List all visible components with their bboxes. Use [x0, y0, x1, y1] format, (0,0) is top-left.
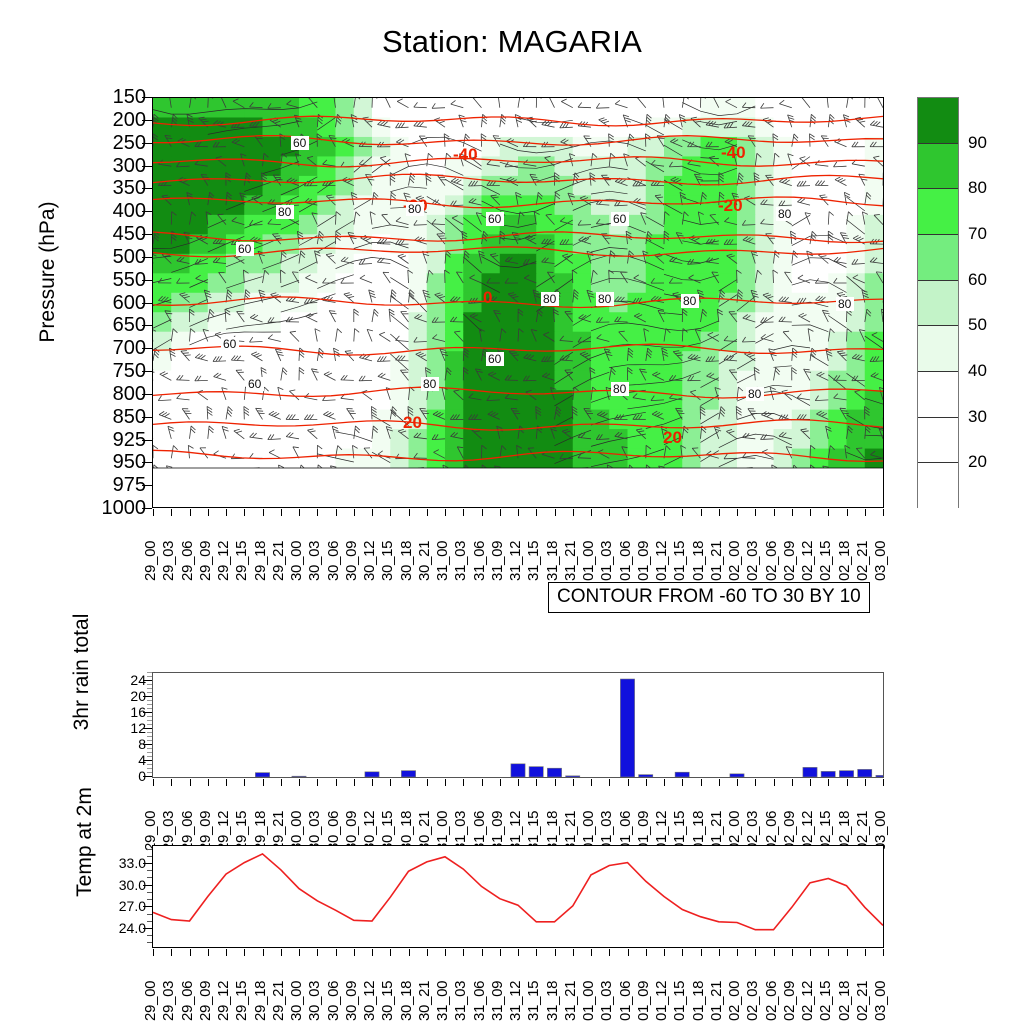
svg-text:60: 60 [293, 136, 307, 150]
pressure-tick-label: 975 [113, 475, 146, 495]
x-tick-label: 03_00 [873, 541, 888, 581]
x-tickmark [445, 509, 446, 516]
pressure-tick-label: 400 [113, 201, 146, 221]
x-tick-label: 03_00 [873, 981, 888, 1021]
x-tickmark [536, 949, 537, 956]
colorbar-band [918, 235, 958, 281]
pressure-tick-label: 350 [113, 178, 146, 198]
x-tickmark [737, 949, 738, 956]
x-tick-label: 31_12 [508, 541, 523, 581]
x-tickmark [299, 779, 300, 786]
x-tick-label: 30_18 [399, 981, 414, 1021]
x-tick-label: 30_00 [289, 541, 304, 581]
x-tickmark [208, 509, 209, 516]
x-tickmark [628, 949, 629, 956]
pressure-tickmark [142, 394, 152, 395]
temp-tickmark [143, 885, 152, 886]
x-tickmark [646, 779, 647, 786]
pressure-tickmark [142, 348, 152, 349]
x-tick-label: 30_21 [417, 981, 432, 1021]
x-tickmark [409, 509, 410, 516]
pressure-axis-ticklabels: 1502002503003504004505005506006507007508… [52, 97, 146, 508]
pressure-tickmark [142, 211, 152, 212]
x-tickmark [226, 949, 227, 956]
temp-x-axis: 29_0029_0329_0629_0929_1229_1529_1829_21… [152, 949, 884, 1023]
pressure-tick-label: 950 [113, 452, 146, 472]
x-tickmark [190, 509, 191, 516]
x-tickmark [682, 779, 683, 786]
rain-tickmark [143, 776, 152, 777]
x-tick-label: 30_03 [307, 541, 322, 581]
x-tickmark [500, 509, 501, 516]
x-tick-label: 30_18 [399, 541, 414, 581]
x-tickmark [263, 509, 264, 516]
x-tickmark [244, 779, 245, 786]
x-tick-label: 29_03 [161, 981, 176, 1021]
x-tickmark [737, 779, 738, 786]
pressure-tick-label: 850 [113, 407, 146, 427]
x-tickmark [573, 949, 574, 956]
temp-axis-ticklabels: 24.027.030.033.0 [86, 845, 146, 948]
x-tickmark [171, 949, 172, 956]
x-tickmark [865, 779, 866, 786]
x-tickmark [755, 779, 756, 786]
pressure-tickmark [142, 120, 152, 121]
x-tickmark [153, 779, 154, 786]
svg-text:80: 80 [683, 294, 697, 308]
x-tick-label: 30_15 [380, 981, 395, 1021]
x-tickmark [263, 779, 264, 786]
x-tickmark [299, 949, 300, 956]
x-tick-label: 30_12 [362, 541, 377, 581]
svg-text:60: 60 [613, 212, 627, 226]
rain-tickmark [143, 728, 152, 729]
rain-x-axis: 29_0029_0329_0629_0929_1229_1529_1829_21… [152, 779, 884, 853]
x-tickmark [190, 949, 191, 956]
temp-tickmark [143, 906, 152, 907]
x-tickmark [244, 949, 245, 956]
pressure-tick-label: 925 [113, 430, 146, 450]
x-tickmark [281, 509, 282, 516]
x-tickmark [883, 949, 884, 956]
x-tickmark [536, 509, 537, 516]
svg-text:20: 20 [663, 428, 682, 447]
svg-text:80: 80 [278, 205, 292, 219]
x-tickmark [573, 509, 574, 516]
x-tickmark [518, 509, 519, 516]
x-tickmark [226, 779, 227, 786]
svg-text:-40: -40 [453, 145, 478, 164]
x-tickmark [810, 949, 811, 956]
pressure-tick-label: 750 [113, 361, 146, 381]
rain-tickmark [143, 680, 152, 681]
x-tickmark [628, 779, 629, 786]
x-tick-label: 01_18 [691, 541, 706, 581]
x-tick-label: 29_03 [161, 541, 176, 581]
x-tickmark [390, 509, 391, 516]
pressure-tick-label: 800 [113, 384, 146, 404]
colorbar-band [918, 281, 958, 327]
pressure-tickmark [142, 462, 152, 463]
rain-axis-tickmarks [142, 672, 152, 778]
x-tickmark [755, 949, 756, 956]
pressure-tick-label: 200 [113, 110, 146, 130]
x-tickmark [701, 779, 702, 786]
x-tickmark [390, 779, 391, 786]
colorbar-band [918, 189, 958, 235]
x-tick-label: 29_09 [198, 981, 213, 1021]
x-tick-label: 31_15 [526, 541, 541, 581]
x-tickmark [883, 779, 884, 786]
x-tick-label: 02_12 [800, 981, 815, 1021]
x-tick-label: 02_09 [782, 981, 797, 1021]
x-tick-label: 02_06 [764, 981, 779, 1021]
x-tickmark [500, 949, 501, 956]
x-tickmark [847, 509, 848, 516]
x-tick-label: 29_12 [216, 541, 231, 581]
temp-tickmark [143, 863, 152, 864]
x-tick-label: 01_00 [581, 981, 596, 1021]
x-tick-label: 31_03 [453, 981, 468, 1021]
x-tickmark [883, 509, 884, 516]
colorbar-tick-label: 80 [968, 178, 987, 198]
x-tick-label: 02_03 [745, 981, 760, 1021]
x-tick-label: 31_03 [453, 541, 468, 581]
x-tickmark [390, 949, 391, 956]
pressure-tickmark [142, 325, 152, 326]
x-tickmark [774, 509, 775, 516]
x-tickmark [609, 949, 610, 956]
x-tickmark [573, 779, 574, 786]
x-tickmark [263, 949, 264, 956]
x-tick-label: 02_09 [782, 541, 797, 581]
x-tickmark [354, 509, 355, 516]
pressure-tickmark [142, 440, 152, 441]
x-tickmark [171, 779, 172, 786]
x-tick-label: 02_21 [855, 981, 870, 1021]
x-tickmark [719, 949, 720, 956]
x-tickmark [354, 949, 355, 956]
x-tick-label: 31_00 [435, 541, 450, 581]
sounding-cross-section-plot[interactable]: -40-40-20-200202080608060608060608080808… [152, 97, 884, 508]
contour-caption: CONTOUR FROM -60 TO 30 BY 10 [548, 582, 870, 613]
x-tickmark [518, 779, 519, 786]
svg-text:80: 80 [543, 292, 557, 306]
x-tickmark [445, 779, 446, 786]
humidity-colorbar [917, 97, 959, 508]
x-tick-label: 31_12 [508, 981, 523, 1021]
svg-text:80: 80 [423, 377, 437, 391]
x-tickmark [701, 949, 702, 956]
rain-tickmark [143, 744, 152, 745]
x-tick-label: 29_12 [216, 981, 231, 1021]
x-tickmark [153, 509, 154, 516]
colorbar-tick-label: 90 [968, 133, 987, 153]
pressure-tick-label: 500 [113, 247, 146, 267]
x-tickmark [847, 949, 848, 956]
x-tick-label: 01_06 [618, 541, 633, 581]
x-tick-label: 29_15 [234, 541, 249, 581]
x-tick-label: 02_15 [818, 541, 833, 581]
rain-axis-ticklabels: 04812162024 [92, 672, 146, 778]
x-tick-label: 29_18 [253, 541, 268, 581]
x-tickmark [427, 949, 428, 956]
x-tick-label: 01_18 [691, 981, 706, 1021]
svg-text:80: 80 [748, 387, 762, 401]
x-tick-label: 02_18 [837, 981, 852, 1021]
colorbar-band [918, 372, 958, 418]
x-tickmark [664, 509, 665, 516]
colorbar-band [918, 326, 958, 372]
x-tickmark [536, 779, 537, 786]
svg-text:60: 60 [223, 337, 237, 351]
x-tickmark [336, 509, 337, 516]
pressure-tickmark [142, 97, 152, 98]
x-tickmark [409, 779, 410, 786]
x-tick-label: 01_09 [636, 541, 651, 581]
x-tick-label: 29_00 [143, 541, 158, 581]
x-tickmark [719, 779, 720, 786]
pressure-tick-label: 250 [113, 133, 146, 153]
colorbar-tick-label: 70 [968, 224, 987, 244]
colorbar-band [918, 98, 958, 144]
x-tickmark [281, 949, 282, 956]
x-tickmark [482, 509, 483, 516]
x-tickmark [555, 779, 556, 786]
x-tick-label: 30_09 [344, 541, 359, 581]
x-tick-label: 31_15 [526, 981, 541, 1021]
x-tick-label: 02_00 [727, 541, 742, 581]
svg-text:80: 80 [598, 292, 612, 306]
rain-tickmark [143, 760, 152, 761]
temp-axis-tickmarks [142, 845, 152, 948]
rain-tickmark [143, 696, 152, 697]
x-tickmark [463, 779, 464, 786]
x-tick-label: 29_00 [143, 981, 158, 1021]
x-tickmark [646, 949, 647, 956]
x-tick-label: 02_03 [745, 541, 760, 581]
x-tickmark [153, 949, 154, 956]
x-tickmark [226, 509, 227, 516]
pressure-tickmark [142, 371, 152, 372]
svg-text:20: 20 [403, 413, 422, 432]
pressure-tickmark [142, 417, 152, 418]
x-tick-label: 29_15 [234, 981, 249, 1021]
x-tickmark [609, 509, 610, 516]
x-tickmark [682, 509, 683, 516]
temperature-line-chart[interactable] [152, 845, 884, 948]
x-tick-label: 02_00 [727, 981, 742, 1021]
x-tickmark [409, 949, 410, 956]
x-tick-label: 30_06 [326, 981, 341, 1021]
x-tick-label: 29_06 [180, 541, 195, 581]
page-title: Station: MAGARIA [0, 24, 1024, 60]
x-tickmark [299, 509, 300, 516]
svg-text:0: 0 [483, 288, 492, 307]
x-tickmark [628, 509, 629, 516]
colorbar-tick-label: 30 [968, 407, 987, 427]
pressure-tickmark [142, 280, 152, 281]
colorbar-tick-label: 40 [968, 361, 987, 381]
svg-text:60: 60 [238, 242, 252, 256]
x-tickmark [208, 949, 209, 956]
pressure-tick-label: 300 [113, 156, 146, 176]
x-tick-label: 02_06 [764, 541, 779, 581]
temp-tickmark [143, 928, 152, 929]
x-tick-label: 01_12 [654, 981, 669, 1021]
x-tickmark [865, 509, 866, 516]
x-tick-label: 30_09 [344, 981, 359, 1021]
x-tickmark [792, 779, 793, 786]
pressure-tickmark [142, 303, 152, 304]
x-tickmark [317, 509, 318, 516]
x-tickmark [244, 509, 245, 516]
x-tick-label: 31_06 [472, 541, 487, 581]
pressure-tickmark [142, 508, 152, 509]
pressure-axis-tickmarks [142, 97, 152, 508]
x-tickmark [682, 949, 683, 956]
colorbar-tick-label: 20 [968, 452, 987, 472]
x-tickmark [847, 779, 848, 786]
x-tickmark [500, 779, 501, 786]
x-tick-label: 01_21 [709, 981, 724, 1021]
svg-text:-20: -20 [718, 196, 743, 215]
svg-text:60: 60 [488, 352, 502, 366]
x-tickmark [609, 779, 610, 786]
x-tickmark [591, 949, 592, 956]
x-tickmark [664, 949, 665, 956]
x-tickmark [445, 949, 446, 956]
colorbar-tick-label: 60 [968, 270, 987, 290]
pressure-tick-label: 600 [113, 293, 146, 313]
svg-text:60: 60 [488, 212, 502, 226]
pressure-tickmark [142, 143, 152, 144]
colorbar-band [918, 144, 958, 190]
colorbar-band [918, 418, 958, 464]
x-tick-label: 01_03 [599, 541, 614, 581]
colorbar-tick-label: 50 [968, 315, 987, 335]
x-tickmark [281, 779, 282, 786]
pressure-tick-label: 1000 [102, 498, 147, 518]
x-tick-label: 29_18 [253, 981, 268, 1021]
x-tick-label: 30_00 [289, 981, 304, 1021]
pressure-tickmark [142, 234, 152, 235]
x-tick-label: 01_21 [709, 541, 724, 581]
x-tickmark [518, 949, 519, 956]
x-tick-label: 29_21 [271, 981, 286, 1021]
x-tickmark [317, 949, 318, 956]
svg-text:80: 80 [838, 297, 852, 311]
x-tick-label: 31_18 [545, 541, 560, 581]
x-tick-label: 29_09 [198, 541, 213, 581]
rain-bar-chart[interactable] [152, 672, 884, 778]
x-tickmark [208, 779, 209, 786]
pressure-tickmark [142, 166, 152, 167]
x-tickmark [482, 779, 483, 786]
x-tickmark [427, 509, 428, 516]
x-tick-label: 01_09 [636, 981, 651, 1021]
pressure-tick-label: 550 [113, 270, 146, 290]
x-tickmark [701, 509, 702, 516]
x-tick-label: 30_15 [380, 541, 395, 581]
pressure-tick-label: 450 [113, 224, 146, 244]
x-tickmark [372, 949, 373, 956]
x-tick-label: 02_21 [855, 541, 870, 581]
svg-text:80: 80 [613, 382, 627, 396]
svg-text:80: 80 [778, 207, 792, 221]
x-tickmark [774, 779, 775, 786]
pressure-tickmark [142, 485, 152, 486]
x-tick-label: 01_06 [618, 981, 633, 1021]
x-tick-label: 31_09 [490, 981, 505, 1021]
x-tick-label: 02_18 [837, 541, 852, 581]
x-tickmark [463, 949, 464, 956]
svg-text:-40: -40 [721, 143, 746, 162]
x-tickmark [719, 509, 720, 516]
sounding-x-axis: 29_0029_0329_0629_0929_1229_1529_1829_21… [152, 509, 884, 583]
x-tickmark [810, 779, 811, 786]
x-tickmark [828, 949, 829, 956]
pressure-tickmark [142, 188, 152, 189]
colorbar-band [918, 463, 958, 509]
x-tickmark [810, 509, 811, 516]
x-tickmark [828, 509, 829, 516]
x-tickmark [865, 949, 866, 956]
pressure-tick-label: 650 [113, 315, 146, 335]
x-tick-label: 30_21 [417, 541, 432, 581]
x-tickmark [792, 949, 793, 956]
x-tick-label: 30_12 [362, 981, 377, 1021]
x-tickmark [828, 779, 829, 786]
x-tickmark [427, 779, 428, 786]
rain-tickmark [143, 712, 152, 713]
x-tick-label: 31_21 [563, 541, 578, 581]
x-tick-label: 30_03 [307, 981, 322, 1021]
x-tick-label: 31_06 [472, 981, 487, 1021]
x-tickmark [755, 509, 756, 516]
x-tickmark [664, 779, 665, 786]
pressure-tickmark [142, 257, 152, 258]
x-tick-label: 01_12 [654, 541, 669, 581]
x-tick-label: 31_21 [563, 981, 578, 1021]
svg-text:60: 60 [248, 377, 262, 391]
x-tickmark [555, 949, 556, 956]
x-tick-label: 01_00 [581, 541, 596, 581]
x-tick-label: 31_00 [435, 981, 450, 1021]
x-tick-label: 31_18 [545, 981, 560, 1021]
x-tickmark [591, 779, 592, 786]
x-tickmark [190, 779, 191, 786]
pressure-tick-label: 700 [113, 338, 146, 358]
x-tickmark [354, 779, 355, 786]
x-tickmark [463, 509, 464, 516]
x-tick-label: 02_12 [800, 541, 815, 581]
x-tickmark [591, 509, 592, 516]
x-tickmark [555, 509, 556, 516]
x-tickmark [482, 949, 483, 956]
pressure-tick-label: 150 [113, 87, 146, 107]
x-tickmark [372, 509, 373, 516]
x-tick-label: 29_06 [180, 981, 195, 1021]
x-tickmark [372, 779, 373, 786]
x-tickmark [336, 779, 337, 786]
x-tickmark [737, 509, 738, 516]
rain-axis-label: 3hr rain total [70, 582, 94, 762]
x-tickmark [317, 779, 318, 786]
x-tickmark [774, 949, 775, 956]
x-tick-label: 01_15 [672, 541, 687, 581]
svg-text:80: 80 [408, 202, 422, 216]
